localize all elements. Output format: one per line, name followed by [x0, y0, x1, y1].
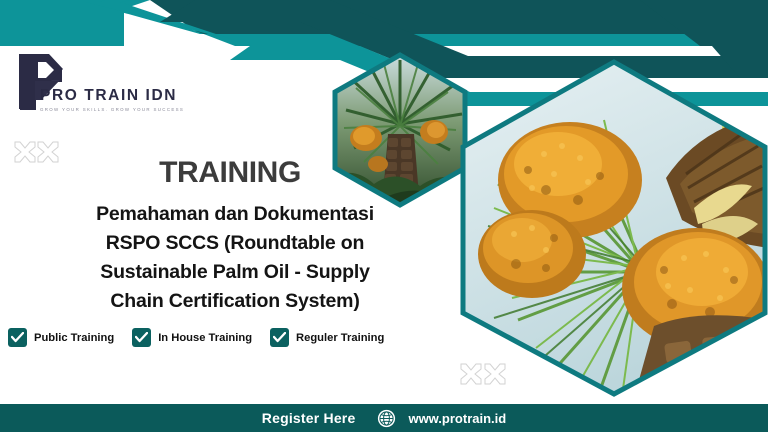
training-type-label: Public Training: [34, 332, 114, 344]
check-icon[interactable]: [8, 328, 27, 347]
page-kicker: TRAINING: [0, 156, 460, 190]
register-here-label[interactable]: Register Here: [262, 410, 356, 426]
brand-text: PRO TRAIN IDN GROW YOUR SKILLS. GROW YOU…: [40, 88, 200, 112]
title-line: Sustainable Palm Oil - Supply: [0, 258, 470, 287]
brand-name: PRO TRAIN IDN: [40, 88, 200, 104]
training-type-public[interactable]: Public Training: [8, 328, 114, 347]
website-url[interactable]: www.protrain.id: [408, 411, 506, 426]
training-types-row: Public Training In House Training Regule…: [8, 328, 468, 347]
check-icon[interactable]: [132, 328, 151, 347]
footer-bar: Register Here www.protrain.id: [0, 404, 768, 432]
brand-logo: PRO TRAIN IDN GROW YOUR SKILLS. GROW YOU…: [12, 52, 192, 122]
poster-canvas: PRO TRAIN IDN GROW YOUR SKILLS. GROW YOU…: [0, 0, 768, 432]
training-type-label: Reguler Training: [296, 332, 384, 344]
training-type-label: In House Training: [158, 332, 252, 344]
title-line: Pemahaman dan Dokumentasi: [0, 200, 470, 229]
page-title: Pemahaman dan Dokumentasi RSPO SCCS (Rou…: [0, 200, 470, 316]
training-type-reguler[interactable]: Reguler Training: [270, 328, 384, 347]
hexagon-photo-palm-fruit: [458, 58, 768, 398]
check-icon[interactable]: [270, 328, 289, 347]
title-line: RSPO SCCS (Roundtable on: [0, 229, 470, 258]
training-type-in-house[interactable]: In House Training: [132, 328, 252, 347]
globe-icon: [377, 409, 396, 428]
title-line: Chain Certification System): [0, 287, 470, 316]
brand-tagline: GROW YOUR SKILLS. GROW YOUR SUCCESS: [40, 107, 200, 112]
